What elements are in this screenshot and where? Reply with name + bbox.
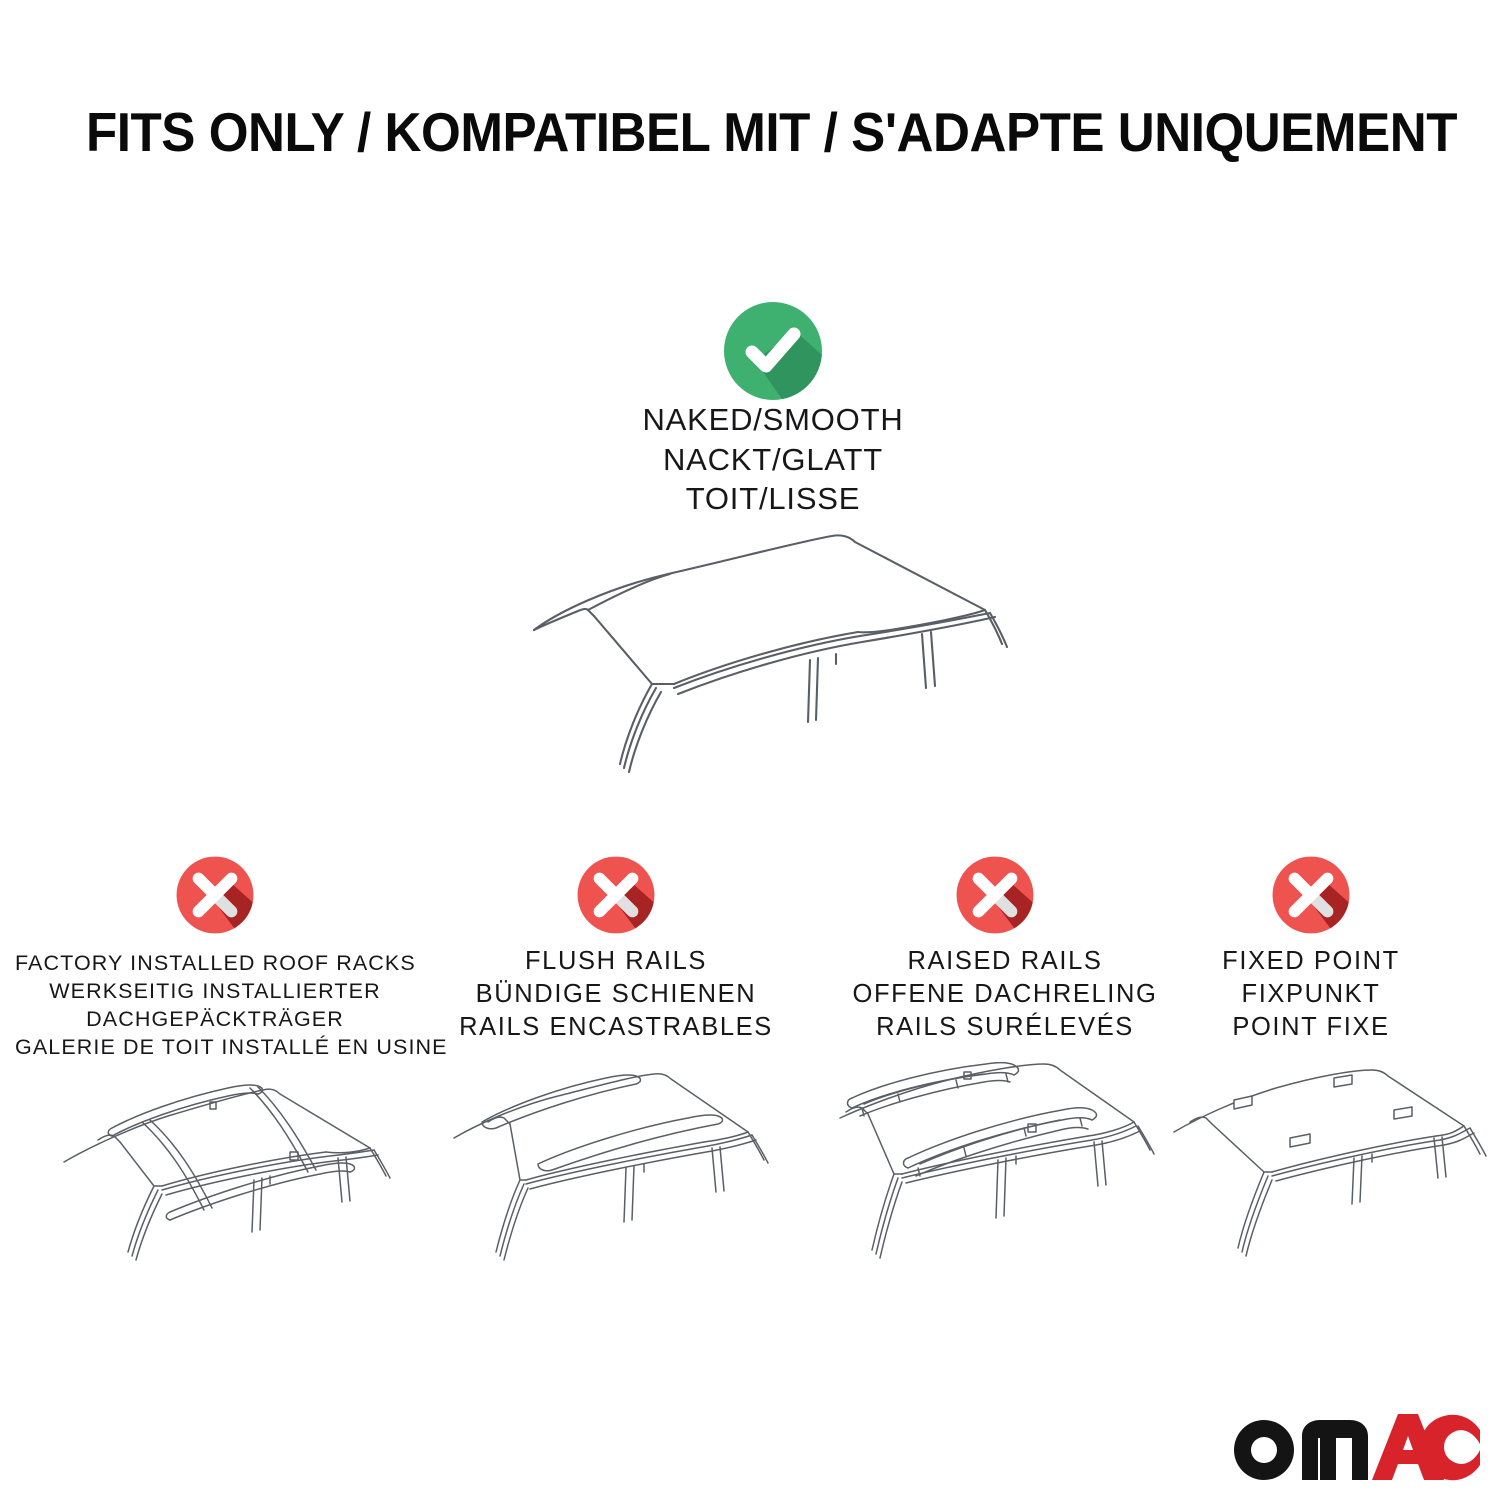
incompatible-label-fixed-point: FIXED POINT FIXPUNKT POINT FIXE xyxy=(1121,945,1500,1044)
incompatible-label-flush-rails: FLUSH RAILS BÜNDIGE SCHIENEN RAILS ENCAS… xyxy=(426,945,806,1044)
car-roof-fixed-point xyxy=(1168,1062,1500,1294)
car-roof-factory-rack xyxy=(58,1062,440,1294)
label-line-3: RAILS ENCASTRABLES xyxy=(426,1011,806,1044)
label-line-4: GALERIE DE TOIT INSTALLÉ EN USINE xyxy=(15,1034,415,1062)
label-line-3: DACHGEPÄCKTRÄGER xyxy=(15,1006,415,1034)
red-x-badge-raised-rails xyxy=(955,855,1035,935)
label-line-3: POINT FIXE xyxy=(1121,1011,1500,1044)
logo-letter-m xyxy=(1302,1420,1368,1480)
omac-logo xyxy=(1222,1406,1480,1484)
red-x-badge-fixed-point xyxy=(1271,855,1351,935)
green-check-badge xyxy=(722,300,824,402)
compatible-label: NAKED/SMOOTH NACKT/GLATT TOIT/LISSE xyxy=(553,400,993,519)
label-line-1: FACTORY INSTALLED ROOF RACKS xyxy=(15,950,415,978)
page-title: FITS ONLY / KOMPATIBEL MIT / S'ADAPTE UN… xyxy=(86,104,1332,162)
car-roof-flush-rails xyxy=(448,1062,830,1294)
label-line-2: FIXPUNKT xyxy=(1121,978,1500,1011)
label-line-2: BÜNDIGE SCHIENEN xyxy=(426,978,806,1011)
car-roof-naked-smooth xyxy=(498,512,1038,802)
incompatible-label-factory-rack: FACTORY INSTALLED ROOF RACKS WERKSEITIG … xyxy=(15,950,415,1062)
logo-letter-o xyxy=(1234,1420,1294,1480)
red-x-badge-flush-rails xyxy=(576,855,656,935)
label-line-1: FLUSH RAILS xyxy=(426,945,806,978)
red-x-badge-factory-rack xyxy=(175,855,255,935)
compatible-label-line-2: NACKT/GLATT xyxy=(553,440,993,480)
label-line-1: FIXED POINT xyxy=(1121,945,1500,978)
car-roof-raised-rails xyxy=(838,1062,1220,1294)
label-line-2: WERKSEITIG INSTALLIERTER xyxy=(15,978,415,1006)
compatible-label-line-1: NAKED/SMOOTH xyxy=(553,400,993,440)
logo-letter-c xyxy=(1420,1415,1480,1480)
